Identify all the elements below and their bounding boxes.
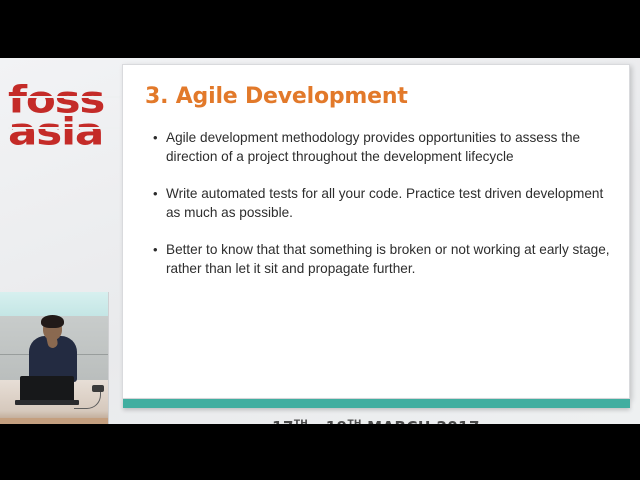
laptop-lid — [20, 376, 74, 402]
speaker-hair — [41, 315, 64, 328]
bullet-text: Agile development methodology provides o… — [166, 129, 613, 166]
background-upper-wall — [0, 292, 108, 316]
list-item: • Agile development methodology provides… — [153, 129, 613, 166]
list-item: • Better to know that that something is … — [153, 241, 613, 278]
speaker-webcam-video — [0, 292, 109, 424]
laptop-base — [15, 400, 79, 405]
letterbox-bottom — [0, 424, 640, 480]
fossasia-logo-line-2: asia — [8, 116, 140, 148]
slide-content-card: 3. Agile Development • Agile development… — [122, 64, 630, 399]
letterbox-top — [0, 0, 640, 58]
fossasia-logo: foss asia — [8, 84, 120, 146]
bullet-text: Better to know that that something is br… — [166, 241, 613, 278]
logo-stencil-slit — [8, 127, 120, 129]
slide-title: 3. Agile Development — [145, 84, 408, 109]
presentation-slide-stage: foss asia 3. Agile Development • Agile d… — [0, 58, 640, 424]
bullet-point-icon: • — [153, 185, 166, 203]
list-item: • Write automated tests for all your cod… — [153, 185, 613, 222]
slide-bullet-list: • Agile development methodology provides… — [153, 129, 613, 297]
bullet-text: Write automated tests for all your code.… — [166, 185, 613, 222]
logo-stencil-slit — [8, 96, 120, 98]
power-adapter — [92, 385, 104, 392]
bullet-point-icon: • — [153, 129, 166, 147]
video-player-viewport: foss asia 3. Agile Development • Agile d… — [0, 0, 640, 480]
bullet-point-icon: • — [153, 241, 166, 259]
slide-accent-bar — [123, 399, 630, 408]
